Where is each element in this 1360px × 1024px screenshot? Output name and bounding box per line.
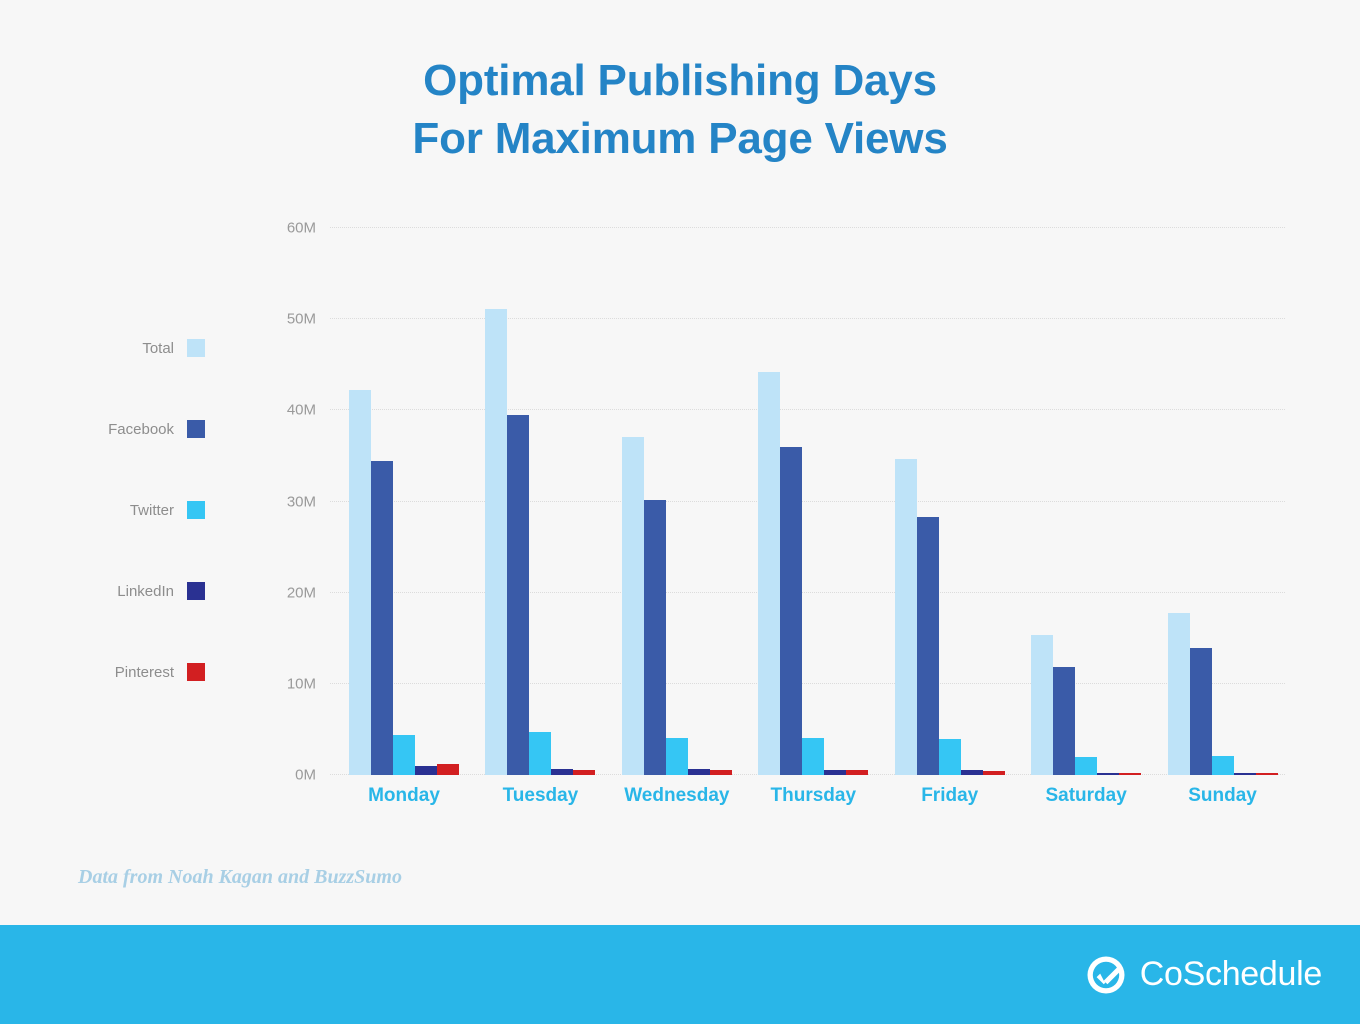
bar-sunday-linkedin[interactable] [1234,773,1256,775]
bar-sunday-twitter[interactable] [1212,756,1234,775]
bar-friday-pinterest[interactable] [983,771,1005,775]
bar-saturday-total[interactable] [1031,635,1053,775]
footer-bar: CoSchedule [0,925,1360,1024]
bar-saturday-pinterest[interactable] [1119,773,1141,775]
bar-thursday-facebook[interactable] [780,447,802,775]
bar-tuesday-pinterest[interactable] [573,770,595,775]
y-axis-tick-label: 50M [287,311,316,328]
x-axis-label-tuesday: Tuesday [503,785,579,807]
y-axis-tick-label: 60M [287,220,316,237]
bar-monday-twitter[interactable] [393,735,415,775]
bar-thursday-total[interactable] [758,372,780,775]
bar-saturday-twitter[interactable] [1075,757,1097,775]
bar-friday-twitter[interactable] [939,739,961,775]
bar-thursday-pinterest[interactable] [846,770,868,775]
bar-thursday-twitter[interactable] [802,738,824,775]
bar-saturday-linkedin[interactable] [1097,773,1119,775]
bar-group-wednesday [622,228,732,775]
bar-group-monday [349,228,459,775]
bar-tuesday-facebook[interactable] [507,415,529,775]
bar-friday-linkedin[interactable] [961,770,983,775]
bar-wednesday-linkedin[interactable] [688,769,710,775]
bar-monday-linkedin[interactable] [415,766,437,775]
bar-monday-pinterest[interactable] [437,764,459,775]
x-axis-label-wednesday: Wednesday [624,785,729,807]
y-axis-tick-label: 30M [287,493,316,510]
chart-plot-area: 60M50M40M30M20M10M0MMondayTuesdayWednesd… [330,228,1285,775]
source-note: Data from Noah Kagan and BuzzSumo [78,866,402,889]
bar-sunday-facebook[interactable] [1190,648,1212,775]
bar-saturday-facebook[interactable] [1053,667,1075,775]
y-axis-tick-label: 40M [287,402,316,419]
x-axis-label-saturday: Saturday [1045,785,1126,807]
bar-wednesday-twitter[interactable] [666,738,688,775]
bar-friday-facebook[interactable] [917,517,939,775]
bar-wednesday-pinterest[interactable] [710,770,732,775]
bar-friday-total[interactable] [895,459,917,775]
coschedule-check-icon [1086,955,1126,995]
bar-group-saturday [1031,228,1141,775]
bar-sunday-pinterest[interactable] [1256,773,1278,775]
y-axis-tick-label: 20M [287,584,316,601]
bar-tuesday-twitter[interactable] [529,732,551,775]
bar-wednesday-total[interactable] [622,437,644,775]
bar-group-friday [895,228,1005,775]
bar-group-thursday [758,228,868,775]
y-axis-tick-label: 0M [295,767,316,784]
x-axis-label-sunday: Sunday [1188,785,1257,807]
bar-wednesday-facebook[interactable] [644,500,666,775]
bar-tuesday-linkedin[interactable] [551,769,573,775]
bar-sunday-total[interactable] [1168,613,1190,775]
bar-group-tuesday [485,228,595,775]
brand-name: CoSchedule [1140,955,1322,994]
bar-tuesday-total[interactable] [485,309,507,775]
x-axis-label-monday: Monday [368,785,440,807]
bar-thursday-linkedin[interactable] [824,770,846,775]
bar-group-sunday [1168,228,1278,775]
x-axis-label-friday: Friday [921,785,978,807]
y-axis-tick-label: 10M [287,675,316,692]
bar-monday-total[interactable] [349,390,371,775]
brand-logo: CoSchedule [1086,955,1322,995]
bar-monday-facebook[interactable] [371,461,393,775]
x-axis-label-thursday: Thursday [771,785,857,807]
